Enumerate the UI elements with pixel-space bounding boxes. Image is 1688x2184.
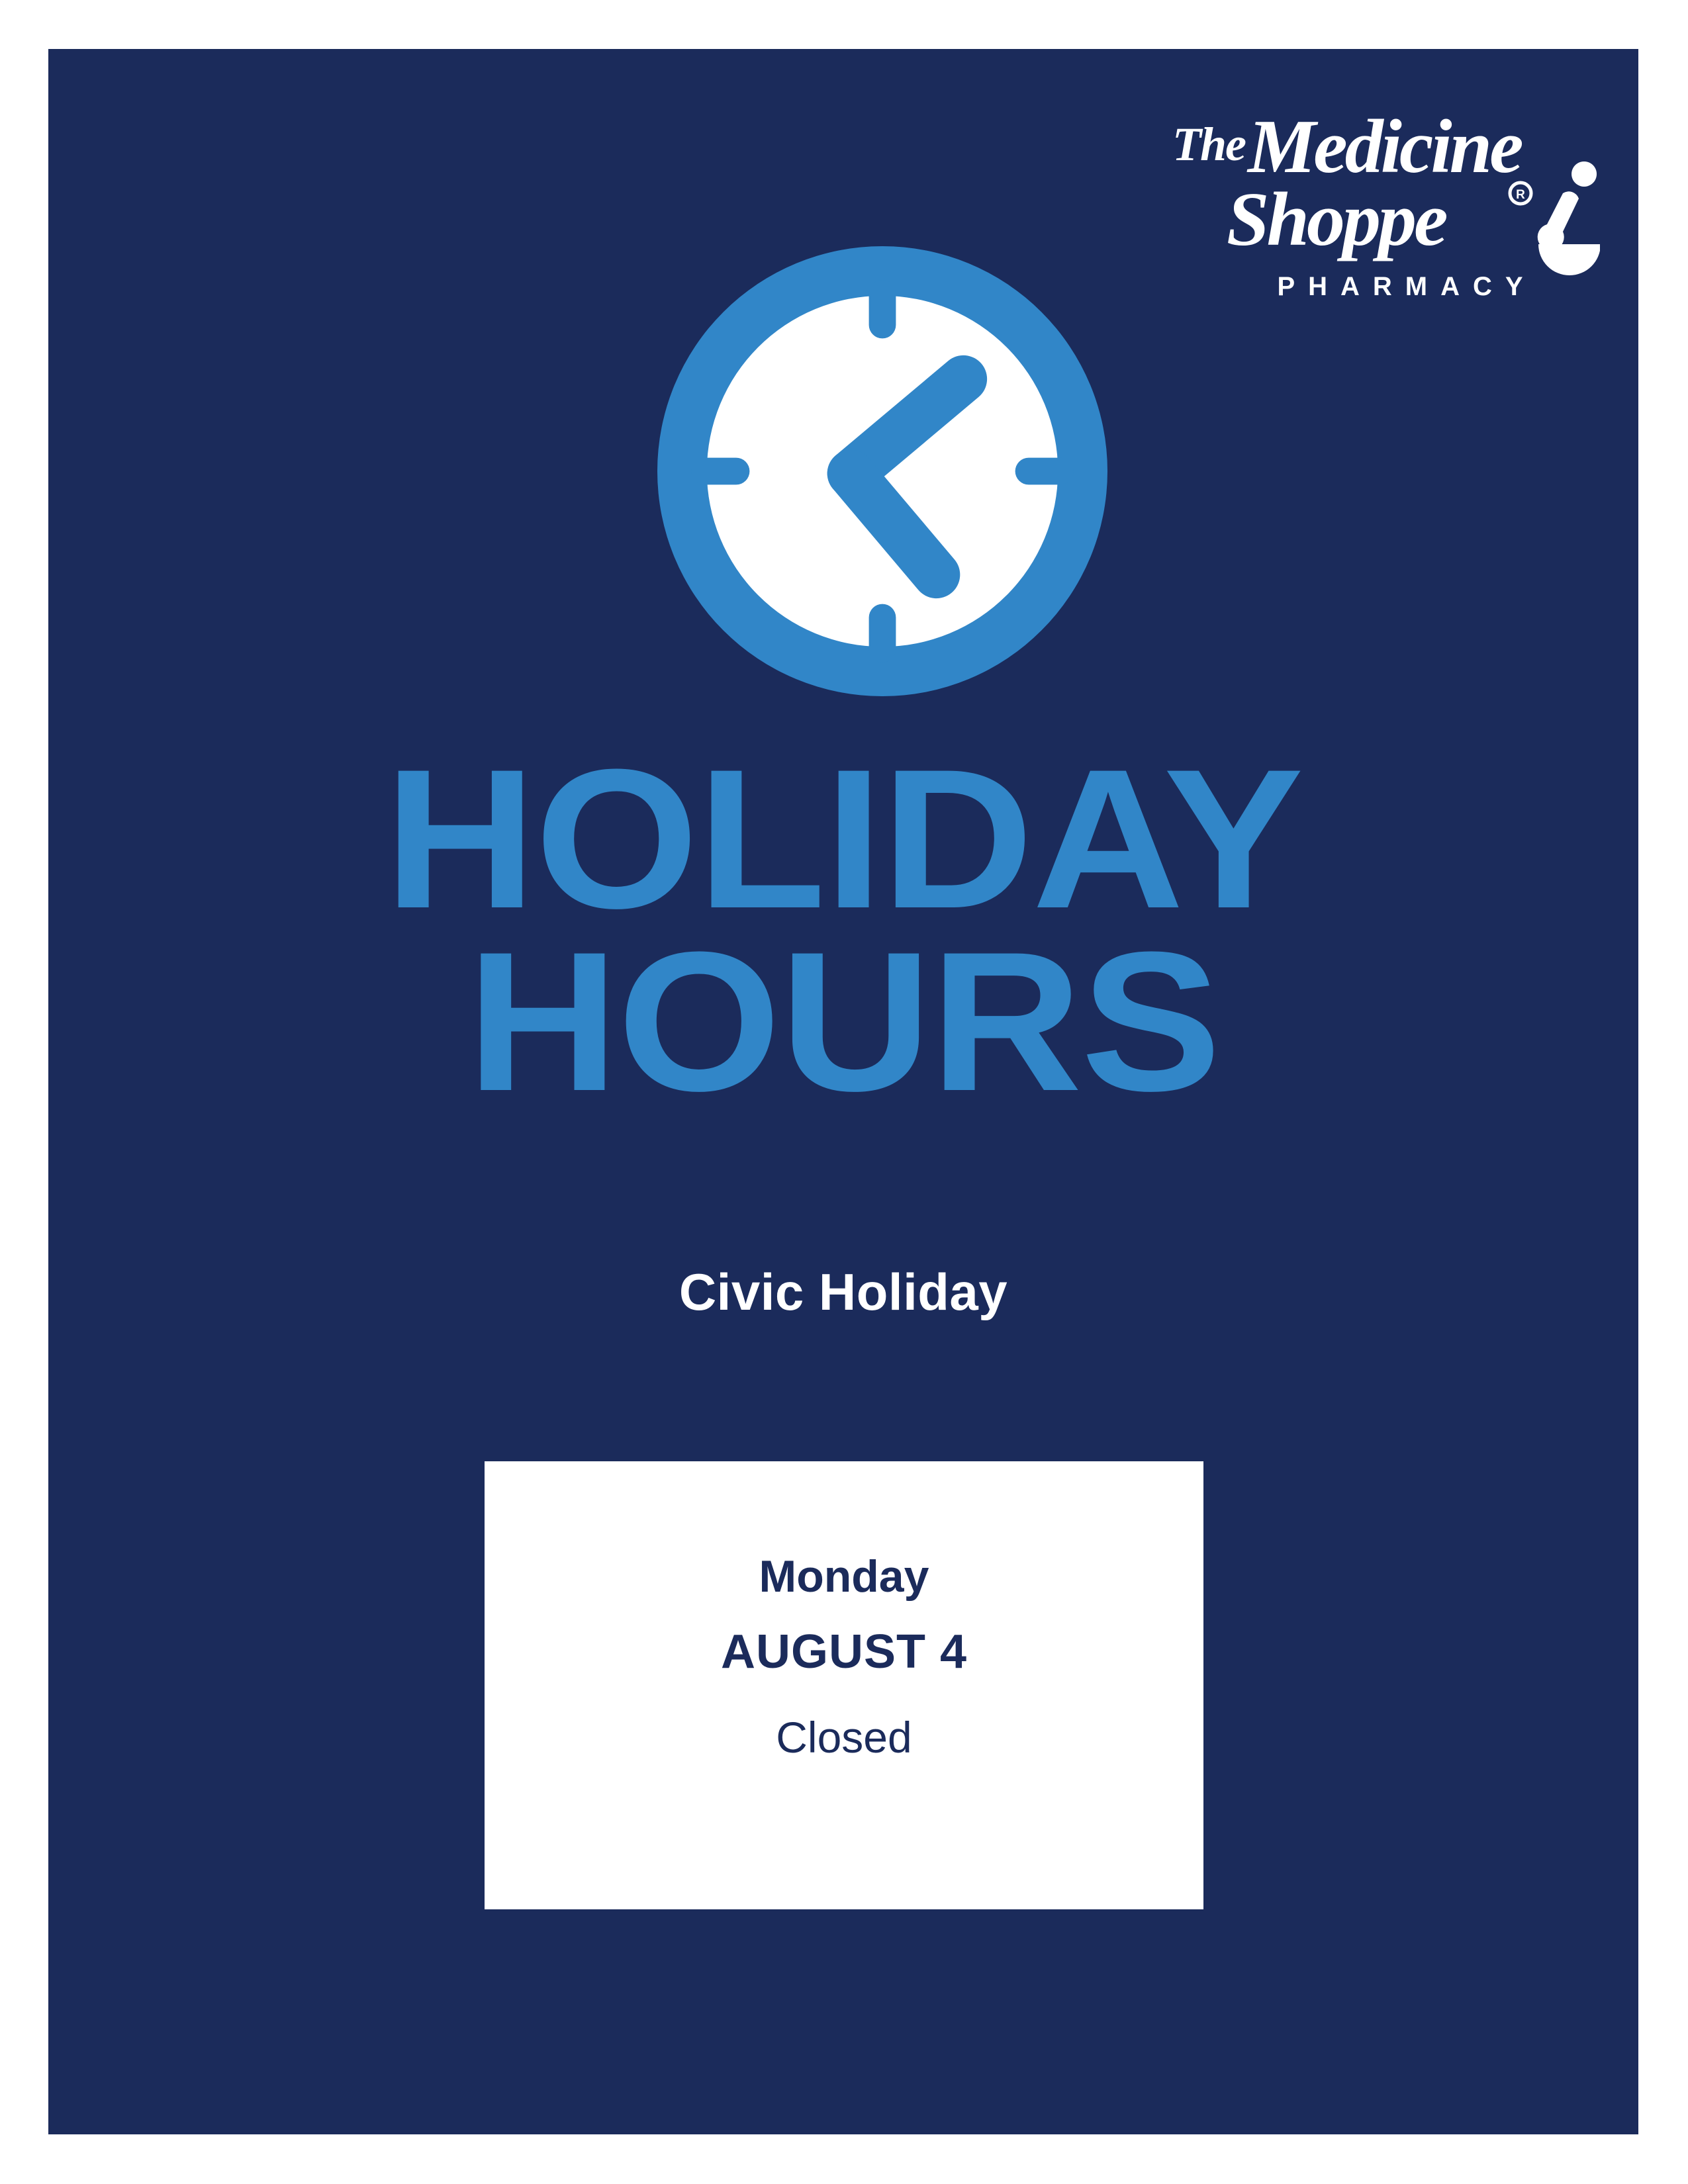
svg-text:R: R (1516, 188, 1525, 202)
status-label: Closed (776, 1715, 912, 1759)
day-of-week-label: Monday (759, 1554, 929, 1599)
svg-text:PHARMACY: PHARMACY (1277, 272, 1536, 301)
clock-icon (657, 246, 1107, 696)
svg-text:The: The (1172, 118, 1246, 171)
date-label: AUGUST 4 (721, 1628, 967, 1676)
headline-line-1: HOLIDAY (48, 747, 1638, 930)
hours-info-card: Monday AUGUST 4 Closed (485, 1461, 1203, 1909)
page-title: HOLIDAY HOURS (48, 747, 1638, 1113)
brand-logo: The Medicine Shoppe R PHARMACY (1163, 109, 1600, 307)
holiday-hours-poster: The Medicine Shoppe R PHARMACY (48, 49, 1638, 2134)
svg-text:Shoppe: Shoppe (1227, 177, 1446, 262)
headline-line-2: HOURS (48, 930, 1638, 1113)
holiday-name-subtitle: Civic Holiday (48, 1262, 1638, 1322)
